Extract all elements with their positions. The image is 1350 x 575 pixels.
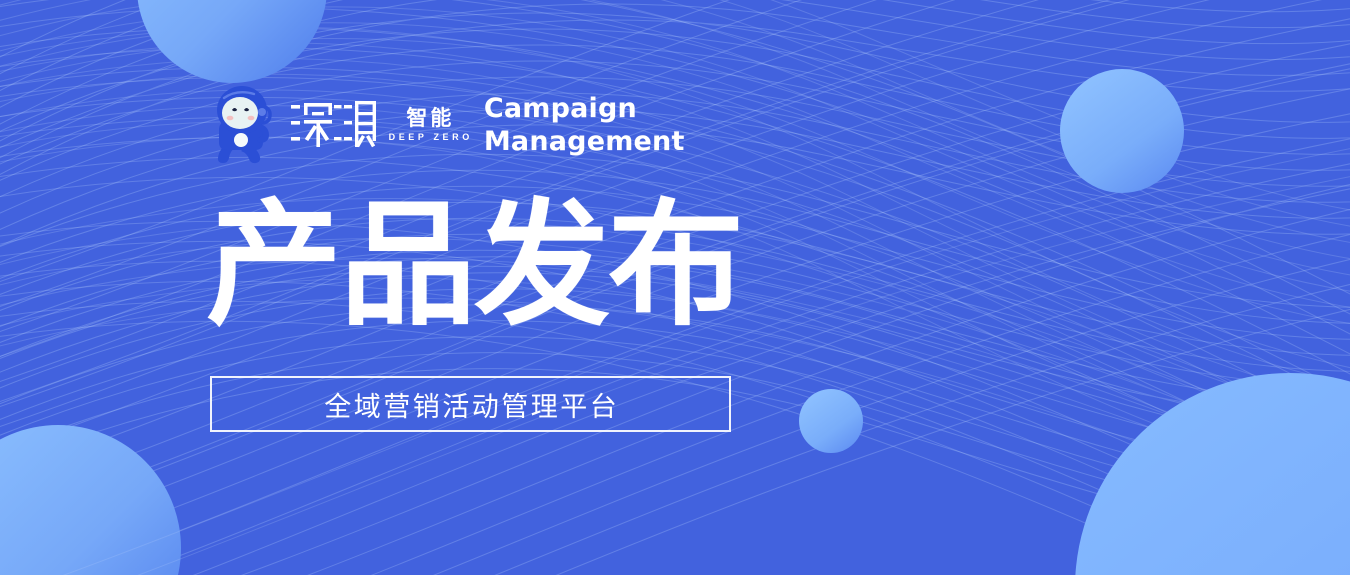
en-tagline: DEEP ZERO [385, 132, 473, 143]
sphere-mid-right [799, 389, 863, 453]
cn-sub-block: 智能 DEEP ZERO [385, 107, 473, 143]
en-product-name-line2: Management [484, 125, 685, 158]
wordmark: 智能 DEEP ZERO Campaign Management [290, 92, 685, 158]
subtitle-text: 全域营销活动管理平台 [322, 385, 620, 424]
page-title: 产品发布 [206, 196, 742, 336]
product-launch-banner: 智能 DEEP ZERO Campaign Management 产品发布 全域… [0, 0, 1350, 575]
sphere-top-right [1060, 69, 1184, 193]
cn-sub-text: 智能 [403, 107, 454, 129]
brand-logo-lockup: 智能 DEEP ZERO Campaign Management [208, 82, 685, 168]
robot-mascot-icon [208, 82, 278, 168]
subtitle-box: 全域营销活动管理平台 [210, 376, 731, 432]
en-product-name: Campaign Management [484, 92, 685, 158]
en-product-name-line1: Campaign [484, 92, 685, 125]
cn-brand-logotype-icon [290, 99, 378, 151]
